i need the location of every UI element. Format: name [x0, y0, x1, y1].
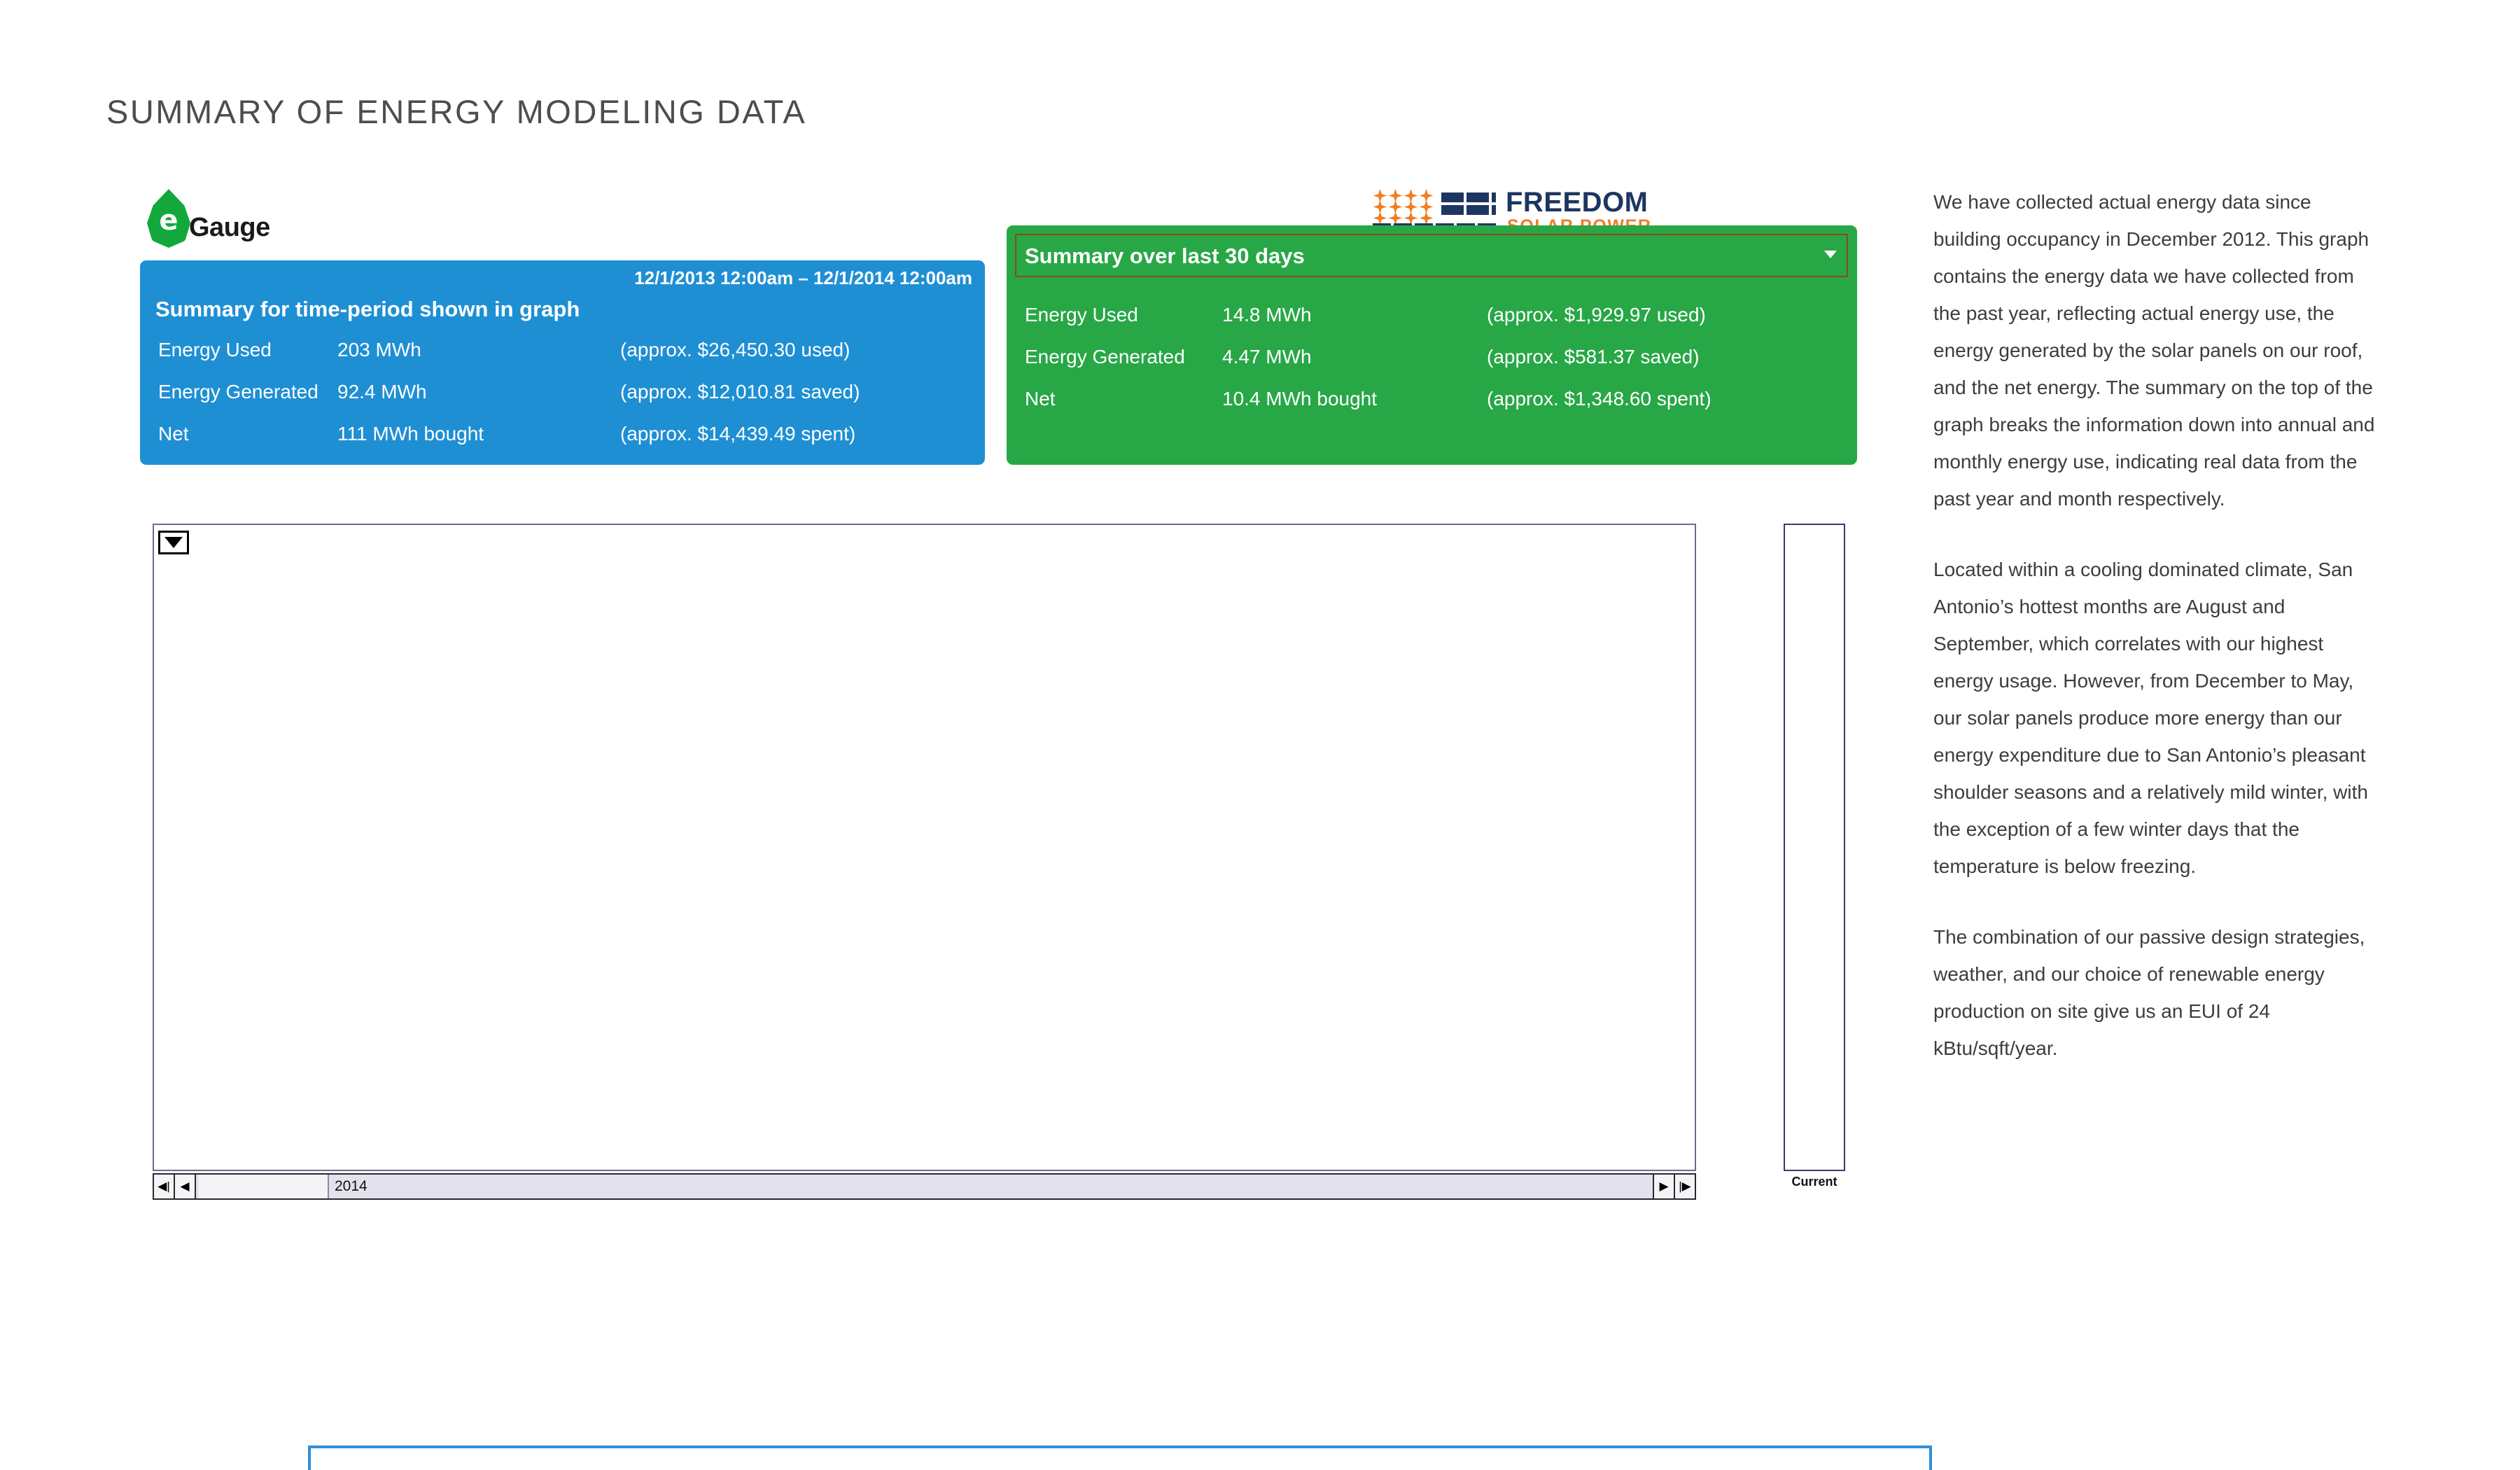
row-value: 4.47 MWh	[1222, 346, 1312, 368]
row-value: 10.4 MWh bought	[1222, 388, 1377, 410]
chart-canvas	[154, 525, 1695, 1170]
row-label: Energy Used	[1025, 304, 1138, 326]
summary-row: Energy Used 14.8 MWh (approx. $1,929.97 …	[1025, 304, 1837, 336]
y-axis-labels	[1700, 524, 1785, 1171]
row-note: (approx. $581.37 saved)	[1487, 346, 1700, 368]
step-back-icon[interactable]: ◀	[175, 1175, 196, 1198]
scroll-segment	[199, 1175, 328, 1198]
row-note: (approx. $26,450.30 used)	[620, 339, 850, 361]
x-axis-labels	[153, 1204, 1696, 1229]
egauge-droplet-icon	[147, 189, 190, 248]
row-label: Net	[1025, 388, 1056, 410]
skip-forward-icon[interactable]: |▶	[1674, 1175, 1695, 1198]
summary-30days-card: Summary over last 30 days Energy Used 14…	[1007, 225, 1857, 465]
scroll-year-label: 2014	[328, 1175, 367, 1198]
egauge-app-panel: Gauge FREEDOM SOLAR POWER	[137, 189, 1859, 1372]
description-paragraph: The combination of our passive design st…	[1933, 918, 2381, 1067]
row-value: 203 MWh	[337, 339, 421, 361]
row-value: 111 MWh bought	[337, 423, 484, 445]
summary-row: Net 111 MWh bought (approx. $14,439.49 s…	[158, 423, 970, 455]
row-label: Energy Generated	[158, 381, 318, 403]
row-note: (approx. $14,439.49 spent)	[620, 423, 855, 445]
chart-plot-area[interactable]	[153, 524, 1696, 1171]
gauge-caption: Current	[1784, 1175, 1845, 1189]
row-note: (approx. $12,010.81 saved)	[620, 381, 860, 403]
chart-menu-icon[interactable]	[158, 531, 189, 554]
summary-row: Energy Generated 4.47 MWh (approx. $581.…	[1025, 346, 1837, 378]
summary-time-period-card: 12/1/2013 12:00am – 12/1/2014 12:00am Su…	[140, 260, 985, 465]
chart-frame: Current ◀| ◀ 2014 ▶ |▶	[140, 524, 1857, 1224]
page-title: SUMMARY OF ENERGY MODELING DATA	[106, 92, 806, 131]
row-value: 14.8 MWh	[1222, 304, 1312, 326]
skip-back-icon[interactable]: ◀|	[154, 1175, 175, 1198]
summary-30days-heading: Summary over last 30 days	[1025, 244, 1305, 269]
chart-legend	[308, 1445, 1932, 1470]
row-label: Net	[158, 423, 189, 445]
row-value: 92.4 MWh	[337, 381, 427, 403]
row-label: Energy Used	[158, 339, 272, 361]
summary-period-heading: Summary for time-period shown in graph	[155, 297, 580, 322]
freedom-name: FREEDOM	[1506, 187, 1648, 218]
chevron-down-icon	[1824, 251, 1837, 258]
step-forward-icon[interactable]: ▶	[1653, 1175, 1674, 1198]
description-text: We have collected actual energy data sin…	[1933, 183, 2381, 1100]
description-paragraph: Located within a cooling dominated clima…	[1933, 551, 2381, 885]
summary-range-select[interactable]: Summary over last 30 days	[1015, 234, 1848, 277]
row-note: (approx. $1,348.60 spent)	[1487, 388, 1711, 410]
egauge-wordmark: Gauge	[189, 213, 270, 243]
description-paragraph: We have collected actual energy data sin…	[1933, 183, 2381, 517]
egauge-logo: Gauge	[147, 189, 308, 249]
current-power-gauge	[1784, 524, 1845, 1171]
summary-row: Energy Used 203 MWh (approx. $26,450.30 …	[158, 339, 970, 371]
summary-row: Energy Generated 92.4 MWh (approx. $12,0…	[158, 381, 970, 413]
summary-row: Net 10.4 MWh bought (approx. $1,348.60 s…	[1025, 388, 1837, 420]
chart-scrollbar[interactable]: ◀| ◀ 2014 ▶ |▶	[153, 1173, 1696, 1200]
row-note: (approx. $1,929.97 used)	[1487, 304, 1706, 326]
row-label: Energy Generated	[1025, 346, 1185, 368]
summary-date-range: 12/1/2013 12:00am – 12/1/2014 12:00am	[634, 267, 972, 289]
